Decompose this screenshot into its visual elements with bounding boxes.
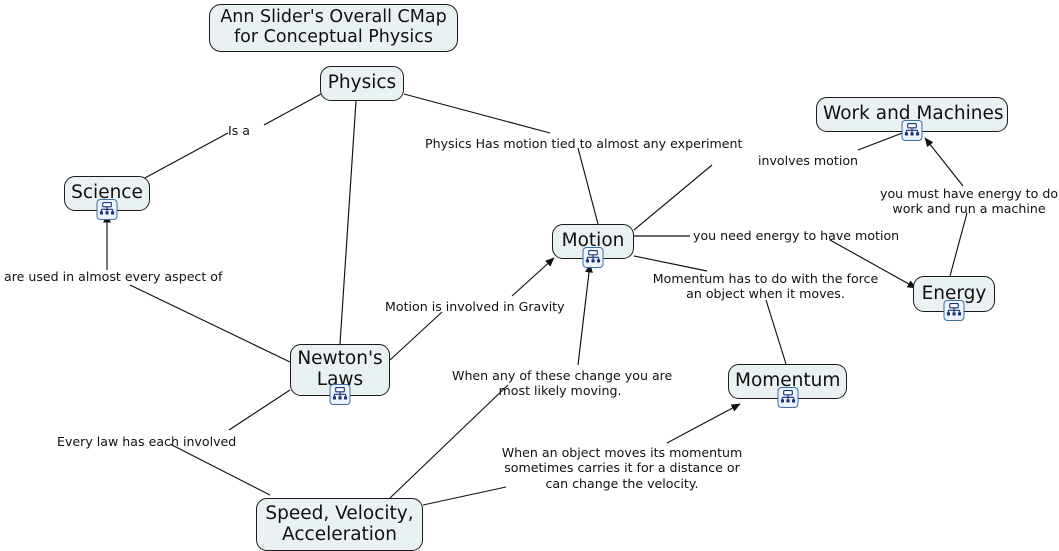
- hierarchy-icon[interactable]: [583, 247, 604, 268]
- link-label-physics-has-motion[interactable]: Physics Has motion tied to almost any ex…: [425, 136, 735, 151]
- link-label-object-moves[interactable]: When an object moves its momentum someti…: [501, 445, 743, 491]
- node-momentum[interactable]: Momentum: [728, 364, 847, 399]
- link-label-is-a[interactable]: Is a: [228, 123, 288, 138]
- link-label-when-any-change[interactable]: When any of these change you are most li…: [452, 368, 668, 399]
- link-label-involves-motion[interactable]: involves motion: [758, 153, 858, 168]
- link-label-momentum-force[interactable]: Momentum has to do with the force an obj…: [651, 271, 880, 302]
- connector-energy-must: [950, 213, 967, 276]
- node-label-physics: Physics: [321, 73, 403, 94]
- node-science[interactable]: Science: [64, 176, 150, 211]
- concept-map-canvas: PhysicsScienceWork and MachinesMotionEne…: [0, 0, 1059, 551]
- node-newtons-laws[interactable]: Newton's Laws: [290, 344, 390, 396]
- link-label-must-have-energy[interactable]: you must have energy to do work and run …: [880, 186, 1058, 217]
- node-energy[interactable]: Energy: [913, 276, 995, 312]
- link-label-are-used-in[interactable]: are used in almost every aspect of: [4, 269, 218, 284]
- hierarchy-icon[interactable]: [330, 384, 351, 405]
- connector-motion-involves: [634, 165, 712, 230]
- connector-physics-newtons: [340, 101, 356, 344]
- node-label-speed: Speed, Velocity, Acceleration: [257, 504, 422, 545]
- connector-involves-work: [858, 132, 905, 150]
- connector-newtons-everylaw: [229, 390, 290, 430]
- connector-everylaw-speed: [170, 444, 270, 495]
- connector-hasmotion-motion: [578, 148, 598, 224]
- link-label-need-energy[interactable]: you need energy to have motion: [693, 228, 893, 243]
- node-speed[interactable]: Speed, Velocity, Acceleration: [256, 498, 423, 551]
- link-label-motion-gravity[interactable]: Motion is involved in Gravity: [385, 299, 570, 314]
- connector-gravity-motion: [512, 258, 554, 296]
- hierarchy-icon[interactable]: [944, 300, 965, 321]
- hierarchy-icon[interactable]: [97, 199, 118, 220]
- hierarchy-icon[interactable]: [902, 120, 923, 141]
- node-work[interactable]: Work and Machines: [816, 97, 1008, 132]
- connector-areused-newtons: [130, 285, 290, 362]
- hierarchy-icon[interactable]: [777, 387, 798, 408]
- connector-motion-whenany: [578, 264, 590, 365]
- connector-momentumlbl-moment: [766, 300, 786, 364]
- connector-speed-objectmoves: [423, 487, 506, 505]
- link-label-every-law[interactable]: Every law has each involved: [57, 434, 237, 449]
- cmap-title-text: Ann Slider's Overall CMap for Conceptual…: [210, 8, 457, 47]
- node-motion[interactable]: Motion: [552, 224, 634, 259]
- connector-physics-science-a: [264, 94, 321, 125]
- connector-must-work: [925, 138, 963, 186]
- connector-newtons-gravity: [390, 312, 442, 360]
- connector-is-a-science: [143, 133, 228, 179]
- connector-physics-hasmotion-a: [404, 94, 550, 133]
- cmap-title-box[interactable]: Ann Slider's Overall CMap for Conceptual…: [209, 4, 458, 52]
- node-physics[interactable]: Physics: [320, 66, 404, 101]
- connector-motion-momentumlbl: [634, 256, 707, 271]
- connector-whenany-speed: [390, 385, 508, 498]
- connector-objectmoves-moment: [667, 404, 740, 443]
